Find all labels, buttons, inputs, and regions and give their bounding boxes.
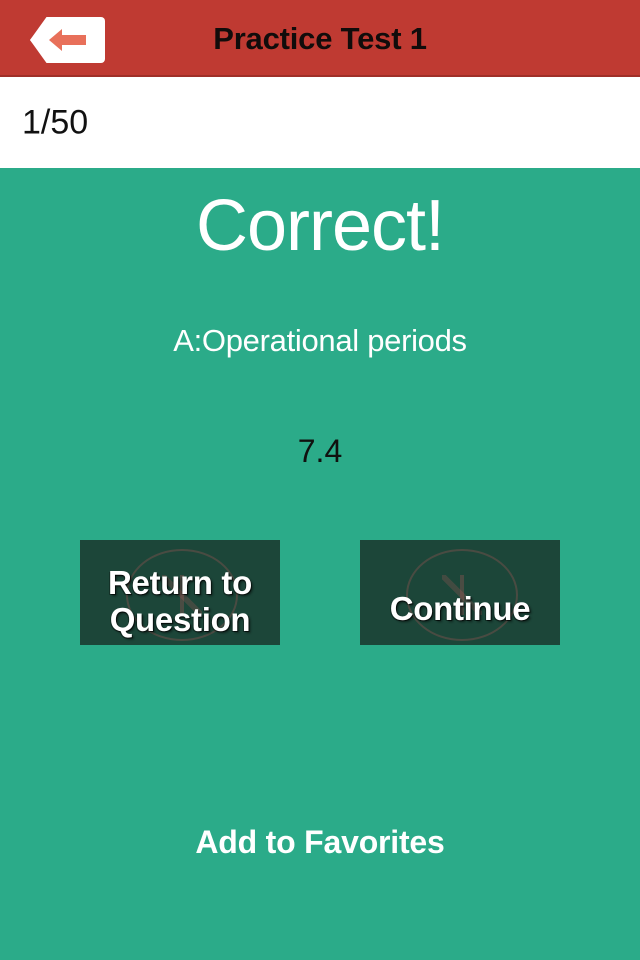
page-title: Practice Test 1 [0,0,640,77]
continue-button[interactable]: Continue [360,540,560,645]
progress-bar: 1/50 [0,77,640,168]
result-heading: Correct! [0,190,640,262]
return-to-question-button[interactable]: Return toQuestion [80,540,280,645]
return-to-question-label: Return toQuestion [80,547,280,639]
add-to-favorites-button[interactable]: Add to Favorites [0,823,640,862]
reference-text: 7.4 [0,433,640,470]
question-counter: 1/50 [22,103,88,142]
answer-text: A:Operational periods [0,323,640,359]
return-label-line2: Question [110,601,251,638]
app-header: Practice Test 1 [0,0,640,77]
return-label-line1: Return to [108,564,252,601]
result-content: Correct! A:Operational periods 7.4 Retur… [0,168,640,960]
continue-label: Continue [360,557,560,628]
quiz-result-screen: Practice Test 1 1/50 Correct! A:Operatio… [0,0,640,960]
